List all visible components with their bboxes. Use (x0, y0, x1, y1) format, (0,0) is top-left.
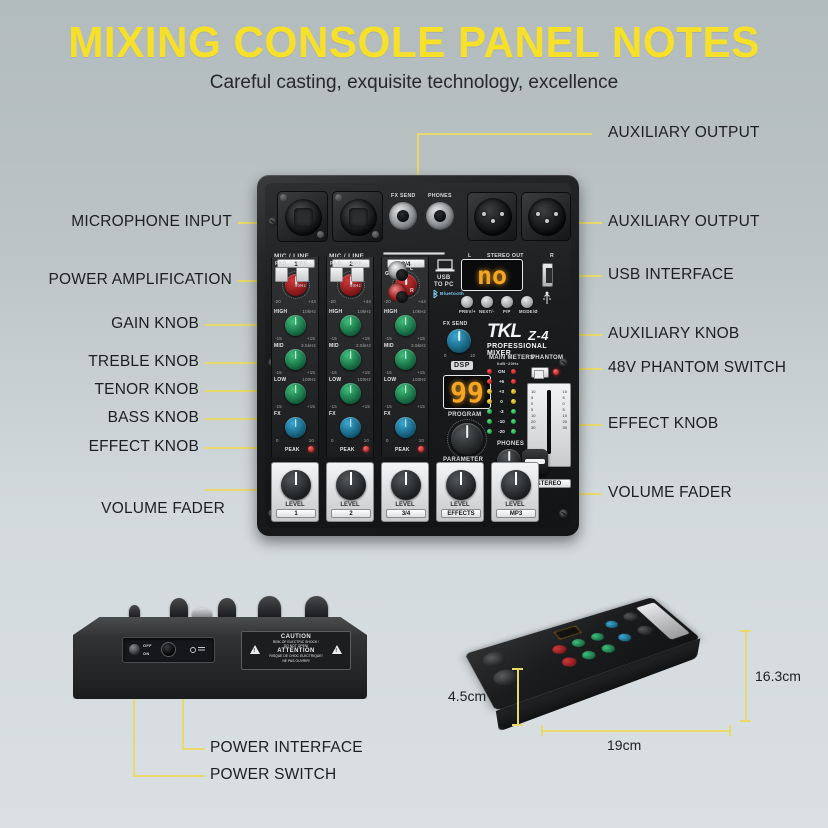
render-detail-knob-blue-b (616, 632, 634, 642)
eq-max-label: +15 (362, 404, 370, 409)
callout-volume-fader-right: VOLUME FADER (608, 484, 732, 502)
rear-knob-5 (305, 596, 328, 620)
eq-min-label: -15 (275, 404, 282, 409)
knob-indicator (295, 351, 297, 359)
knob-indicator (460, 472, 462, 485)
volume-fader-knob-mp3[interactable] (501, 470, 531, 500)
level-label: LEVEL (272, 502, 318, 508)
callout-label: USB INTERFACE (608, 266, 734, 283)
bass-knob-2[interactable] (340, 383, 361, 404)
knob-indicator (458, 331, 460, 341)
render-detail-knob-red-b (560, 656, 580, 669)
xlr-pin (536, 212, 540, 216)
button-next[interactable] (481, 296, 493, 308)
power-switch[interactable] (129, 644, 140, 655)
render-detail-lcd (553, 625, 582, 640)
high-freq-label: 10kHz (358, 309, 371, 314)
knob-indicator (466, 425, 468, 438)
rear-knob-2 (170, 598, 188, 619)
meter-label: 0 (494, 399, 509, 404)
rear-knob-3 (218, 598, 236, 619)
callout-effect-knob-left: EFFECT KNOB (0, 438, 199, 456)
dimension-cap-depth-bottom (740, 720, 751, 722)
phones-jack-label: PHONES (428, 193, 452, 199)
led-indicator-left (487, 379, 492, 384)
divider-bar (383, 252, 445, 255)
fx-send-max: 10 (470, 353, 475, 358)
callout-label: EFFECT KNOB (608, 415, 718, 432)
peak-label: PEAK (340, 447, 355, 453)
knob-indicator (350, 419, 352, 427)
phantom-power-switch[interactable] (531, 367, 549, 378)
gain-min-label: -20 (274, 299, 281, 304)
led-indicator-right (511, 379, 516, 384)
callout-label: TREBLE KNOB (88, 353, 199, 370)
level-panel-2: LEVEL 2 (326, 462, 374, 522)
led-indicator-left (487, 389, 492, 394)
callout-label: VOLUME FADER (101, 500, 225, 517)
meter-row-minus10: -10 (487, 419, 516, 424)
fader-scale-right: 10505102030 (563, 389, 567, 431)
meter-label: +3 (494, 389, 509, 394)
knob-indicator (295, 385, 297, 393)
callout-usb-interface: USB INTERFACE (608, 266, 734, 284)
peak-led-indicator (418, 446, 424, 452)
mic-line-combo-jack-2[interactable] (332, 191, 383, 242)
xlr-pin (500, 212, 504, 216)
led-indicator-left (487, 419, 492, 424)
bluetooth-label: Bluetooth (440, 291, 464, 296)
meter-row-zero: 0 (487, 399, 516, 404)
eq-min-label: -15 (330, 404, 337, 409)
latch-icon (335, 194, 342, 201)
level-channel-label-3-4: 3/4 (386, 509, 426, 518)
xlr-pin (491, 219, 495, 223)
laptop-icon (435, 259, 455, 273)
dsp-badge: DSP (451, 361, 473, 370)
knob-indicator (405, 317, 407, 325)
callout-aux-output-top: AUXILIARY OUTPUT (608, 124, 760, 142)
callout-label: VOLUME FADER (608, 484, 732, 501)
tenor-knob-3-4[interactable] (395, 349, 416, 370)
brand-logo: TKL (487, 321, 521, 343)
usb-icon (542, 291, 552, 305)
knob-indicator (515, 472, 517, 485)
callout-label: BASS KNOB (108, 409, 199, 426)
xlr-pin (554, 212, 558, 216)
high-label: HIGH (384, 309, 397, 315)
level-panel-3-4: LEVEL 3/4 (381, 462, 429, 522)
dimension-line-width (541, 730, 731, 732)
leader-line-power-interface-h (182, 748, 205, 750)
led-indicator-right (511, 399, 516, 404)
fx-min-label: 0 (331, 438, 334, 443)
low-label: LOW (384, 377, 396, 383)
usb-to-pc-label-line2: TO PC (434, 282, 454, 288)
connector-row: FX SEND PHONES (271, 189, 565, 251)
dimension-cap-depth-top (740, 630, 751, 632)
meter-row-on: ON (487, 369, 516, 374)
button-prev[interactable] (461, 296, 473, 308)
effect-knob-2[interactable] (340, 417, 361, 438)
callout-volume-fader-left: VOLUME FADER (0, 500, 225, 518)
page-title: MIXING CONSOLE PANEL NOTES (17, 18, 812, 68)
phantom-label: PHANTOM (531, 355, 563, 361)
eq-min-label: -15 (330, 370, 337, 375)
usb-port[interactable] (542, 263, 553, 287)
pad-label-2: PAD (330, 261, 341, 267)
eq-max-label: +15 (307, 404, 315, 409)
dimension-label-depth: 16.3cm (755, 668, 801, 684)
level-panel-mp3: LEVEL MP3 (491, 462, 539, 522)
dimension-cap-width-right (729, 725, 731, 736)
render-detail-knob-blue-a (603, 620, 620, 630)
fader-track (547, 390, 551, 454)
mixer-console-top-view: FX SEND PHONES (257, 175, 579, 536)
warning-triangle-icon-right (332, 645, 342, 654)
render-detail-knob-dark-a (621, 611, 641, 622)
fx-send-jack[interactable] (389, 202, 417, 230)
fader-scale-left: 10505102030 (531, 389, 535, 431)
meter-label: -20 (494, 429, 509, 434)
peak-label: PEAK (285, 447, 300, 453)
eq-min-label: -15 (385, 404, 392, 409)
level-label: LEVEL (437, 502, 483, 508)
knob-indicator (295, 472, 297, 485)
fx-max-label: 10 (309, 438, 314, 443)
eq-min-label: -15 (385, 336, 392, 341)
screw-icon (559, 509, 568, 518)
rear-knob-1 (129, 605, 140, 619)
callout-label: POWER SWITCH (210, 766, 336, 783)
leader-line-power-switch-h (133, 775, 205, 777)
mid-label: MID (329, 343, 339, 349)
high-label: HIGH (329, 309, 342, 315)
button-label-play-pause: P/P (503, 309, 511, 314)
low-freq-label: 100Hz (302, 377, 316, 382)
led-indicator-right (511, 369, 516, 374)
infographic-canvas: MIXING CONSOLE PANEL NOTES Careful casti… (0, 0, 828, 828)
treble-knob-3-4[interactable] (395, 315, 416, 336)
callout-effect-knob-right: EFFECT KNOB (608, 415, 718, 433)
knob-indicator (405, 385, 407, 393)
render-detail-knob-green-b (580, 650, 598, 661)
high-freq-label: 10kHz (303, 309, 316, 314)
treble-knob-2[interactable] (340, 315, 361, 336)
peak-led-indicator (308, 446, 314, 452)
callout-phantom-switch: 48V PHANTOM SWITCH (608, 359, 786, 377)
auxiliary-fx-send-knob[interactable] (447, 329, 471, 353)
meter-label: +6 (494, 379, 509, 384)
led-indicator-left (487, 369, 492, 374)
fx-label: FX (274, 411, 281, 417)
volume-fader-knob-1[interactable] (281, 470, 311, 500)
render-detail-knob-dark-b (635, 624, 656, 636)
knob-indicator (350, 472, 352, 485)
hpf-freq-label-1: 80Hz (295, 283, 306, 288)
peak-led-indicator (363, 446, 369, 452)
callout-power-interface: POWER INTERFACE (210, 739, 363, 757)
level-channel-label-2: 2 (331, 509, 371, 518)
bass-knob-3-4[interactable] (395, 383, 416, 404)
treble-knob-1[interactable] (285, 315, 306, 336)
level-label: LEVEL (382, 502, 428, 508)
level-channel-label-effects: EFFECTS (441, 509, 481, 518)
phantom-led-indicator (553, 369, 559, 375)
rca-jack-left[interactable] (388, 261, 407, 280)
rca-label-r: R (410, 288, 414, 294)
callout-bass-knob: BASS KNOB (0, 409, 199, 427)
fx-label: FX (384, 411, 391, 417)
fx-send-knob-label: FX SEND (443, 321, 468, 327)
bass-knob-1[interactable] (285, 383, 306, 404)
hpf-switch-1[interactable] (296, 267, 309, 282)
dimension-cap-height-bottom (512, 724, 523, 726)
xlr-ring (285, 199, 322, 236)
low-label: LOW (329, 377, 341, 383)
level-label: LEVEL (492, 502, 538, 508)
pad-label-1: PAD (275, 261, 286, 267)
latch-icon (280, 194, 287, 201)
eq-min-label: -15 (275, 336, 282, 341)
led-indicator-left (487, 429, 492, 434)
knob-indicator (350, 317, 352, 325)
xlr-pin (482, 212, 486, 216)
caution-label: CAUTION RISK OF ELECTRIC SHOCK ! DO NOT … (241, 631, 351, 670)
led-indicator-left (487, 409, 492, 414)
rear-knob-4 (258, 596, 281, 620)
button-label-mode: MODE/Ø (519, 309, 538, 314)
bluetooth-icon (432, 289, 439, 299)
eq-max-label: +15 (362, 370, 370, 375)
program-value: 99 (450, 376, 484, 409)
callout-gain-knob: GAIN KNOB (0, 315, 199, 333)
callout-label: TENOR KNOB (95, 381, 199, 398)
effect-knob-1[interactable] (285, 417, 306, 438)
low-label: LOW (274, 377, 286, 383)
dimension-line-depth (745, 630, 747, 722)
knob-indicator (508, 451, 510, 461)
display-value: no (477, 261, 507, 290)
model-name: Z-4 (528, 328, 549, 343)
tenor-knob-1[interactable] (285, 349, 306, 370)
mid-freq-label: 2.5kHz (301, 343, 316, 348)
hpf-switch-2[interactable] (351, 267, 364, 282)
power-interface-dc-jack[interactable] (161, 642, 176, 657)
gain-max-label: +44 (418, 299, 426, 304)
volume-fader-knob-effects[interactable] (446, 470, 476, 500)
eq-max-label: +15 (417, 404, 425, 409)
rca-label-l: L (410, 266, 413, 272)
peak-label: PEAK (395, 447, 410, 453)
gain-max-label: +44 (363, 299, 371, 304)
level-label: LEVEL (327, 502, 373, 508)
led-indicator-right (511, 419, 516, 424)
attention-subtitle: RISQUE DE CHOC ELECTRIQUE! NE PAS OUVRIR… (244, 654, 348, 662)
eq-min-label: -15 (275, 370, 282, 375)
dimension-line-height (517, 668, 519, 726)
callout-label: POWER INTERFACE (210, 739, 363, 756)
eq-max-label: +15 (307, 370, 315, 375)
pad-switch-1[interactable] (275, 267, 288, 282)
mixer-dimension-view: 4.5cm 19cm 16.3cm (445, 590, 785, 740)
volume-fader-knob-2[interactable] (336, 470, 366, 500)
dimension-label-height: 4.5cm (448, 688, 486, 704)
effect-knob-3-4[interactable] (395, 417, 416, 438)
program-parameter-knob[interactable] (451, 423, 483, 455)
callout-label: AUXILIARY KNOB (608, 325, 739, 342)
mid-label: MID (274, 343, 284, 349)
callout-label: POWER AMPLIFICATION (48, 271, 232, 288)
meter-row-minus20: -20 (487, 429, 516, 434)
xlr-pin (545, 219, 549, 223)
meter-row-plus3: +3 (487, 389, 516, 394)
gain-min-label: -20 (384, 299, 391, 304)
knob-indicator (350, 351, 352, 359)
usb-to-pc-label-line1: USB (437, 275, 451, 281)
rca-jack-right[interactable] (388, 283, 407, 302)
eq-max-label: +15 (307, 336, 315, 341)
eq-min-label: -15 (330, 336, 337, 341)
meter-row-minus3: -3 (487, 409, 516, 414)
high-freq-label: 10kHz (413, 309, 426, 314)
hpf-freq-label-2: 80Hz (350, 283, 361, 288)
phones-knob-label: PHONES (497, 441, 524, 447)
fx-label: FX (329, 411, 336, 417)
eq-max-label: +15 (362, 336, 370, 341)
led-indicator-right (511, 389, 516, 394)
callout-label: AUXILIARY OUTPUT (608, 124, 760, 141)
warning-triangle-icon-left (250, 645, 260, 654)
led-indicator-right (511, 409, 516, 414)
callout-power-amplification: POWER AMPLIFICATION (0, 271, 232, 289)
fx-send-jack-label: FX SEND (391, 193, 416, 199)
callout-auxiliary-knob: AUXILIARY KNOB (608, 325, 739, 343)
button-label-prev: PREV/+ (459, 309, 476, 314)
eq-min-label: -15 (385, 370, 392, 375)
knob-indicator (405, 351, 407, 359)
leader-line-aux-output-top-v (417, 133, 419, 181)
fx-max-label: 10 (419, 438, 424, 443)
volume-fader-knob-3-4[interactable] (391, 470, 421, 500)
tenor-knob-2[interactable] (340, 349, 361, 370)
meter-label: -10 (494, 419, 509, 424)
fx-max-label: 10 (364, 438, 369, 443)
meter-label: -3 (494, 409, 509, 414)
knob-indicator (350, 385, 352, 393)
rear-panel-chassis: OFF ON CAUTION RISK OF ELECTRIC SHOCK ! … (73, 617, 367, 699)
dimension-cap-width-left (541, 725, 543, 736)
button-label-next: NEXT/- (479, 309, 495, 314)
callout-label: EFFECT KNOB (89, 438, 199, 455)
callout-aux-output-xlr: AUXILIARY OUTPUT (608, 213, 760, 231)
dc-polarity-icon (189, 646, 207, 654)
pad-switch-2[interactable] (330, 267, 343, 282)
program-display: 99 (443, 375, 491, 409)
callout-power-switch: POWER SWITCH (210, 766, 336, 784)
high-label: HIGH (274, 309, 287, 315)
mixer-faceplate: FX SEND PHONES (265, 183, 571, 528)
led-indicator-right (511, 429, 516, 434)
mid-freq-label: 2.5kHz (356, 343, 371, 348)
power-switch-on-label: ON (143, 651, 150, 656)
stereo-out-xlr-left[interactable] (467, 192, 517, 241)
callout-treble-knob: TREBLE KNOB (0, 353, 199, 371)
level-panel-effects: LEVEL EFFECTS (436, 462, 484, 522)
knob-indicator (405, 419, 407, 427)
mic-line-combo-jack-1[interactable] (277, 191, 328, 242)
mid-label: MID (384, 343, 394, 349)
button-play-pause[interactable] (501, 296, 513, 308)
latch-icon (372, 231, 379, 238)
render-detail-xlr-a (480, 650, 509, 670)
phones-jack[interactable] (426, 202, 454, 230)
render-detail-knob-green-a (570, 638, 587, 649)
mixer-3d-render (465, 597, 701, 711)
xlr-ring (340, 199, 377, 236)
stereo-out-xlr-right[interactable] (521, 192, 571, 241)
led-indicator-left (487, 399, 492, 404)
fx-send-min: 0 (444, 353, 447, 358)
callout-label: 48V PHANTOM SWITCH (608, 359, 786, 376)
hpf-label-2: HPF (351, 261, 362, 267)
knob-indicator (405, 472, 407, 485)
render-detail-knob-green-d (599, 643, 617, 654)
fx-min-label: 0 (276, 438, 279, 443)
page-subtitle: Careful casting, exquisite technology, e… (0, 72, 828, 94)
xlr-ring (474, 198, 512, 236)
dimension-label-width: 19cm (607, 737, 641, 753)
knob-indicator (295, 419, 297, 427)
mid-freq-label: 2.5kHz (411, 343, 426, 348)
low-freq-label: 100Hz (357, 377, 371, 382)
latch-icon (317, 231, 324, 238)
stereo-out-label-r: R (550, 253, 554, 259)
render-detail-knob-red-a (550, 644, 569, 656)
level-channel-label-1: 1 (276, 509, 316, 518)
power-switch-off-label: OFF (143, 643, 152, 648)
callout-tenor-knob: TENOR KNOB (0, 381, 199, 399)
low-freq-label: 100Hz (412, 377, 426, 382)
callout-microphone-input: MICROPHONE INPUT (0, 213, 232, 231)
level-panel-1: LEVEL 1 (271, 462, 319, 522)
callout-label: AUXILIARY OUTPUT (608, 213, 760, 230)
gain-max-label: +44 (308, 299, 316, 304)
hpf-label-1: HPF (296, 261, 307, 267)
meter-row-plus6: +6 (487, 379, 516, 384)
fx-min-label: 0 (386, 438, 389, 443)
leader-line-aux-output-top-h (417, 133, 592, 135)
meter-label: ON (494, 369, 509, 374)
main-meters-sublabel: 0dB~20Hz (497, 361, 519, 366)
dimension-cap-height-top (512, 668, 523, 670)
main-display: no (461, 259, 523, 291)
callout-label: MICROPHONE INPUT (71, 213, 232, 230)
callout-label: GAIN KNOB (111, 315, 199, 332)
eq-max-label: +15 (417, 370, 425, 375)
xlr-ring (528, 198, 566, 236)
mixer-rear-view: OFF ON CAUTION RISK OF ELECTRIC SHOCK ! … (55, 595, 385, 720)
render-detail-knob-green-c (589, 632, 606, 642)
program-label: PROGRAM (448, 412, 481, 418)
level-channel-label-mp3: MP3 (496, 509, 536, 518)
button-mode[interactable] (521, 296, 533, 308)
knob-indicator (295, 317, 297, 325)
gain-min-label: -20 (329, 299, 336, 304)
eq-max-label: +15 (417, 336, 425, 341)
